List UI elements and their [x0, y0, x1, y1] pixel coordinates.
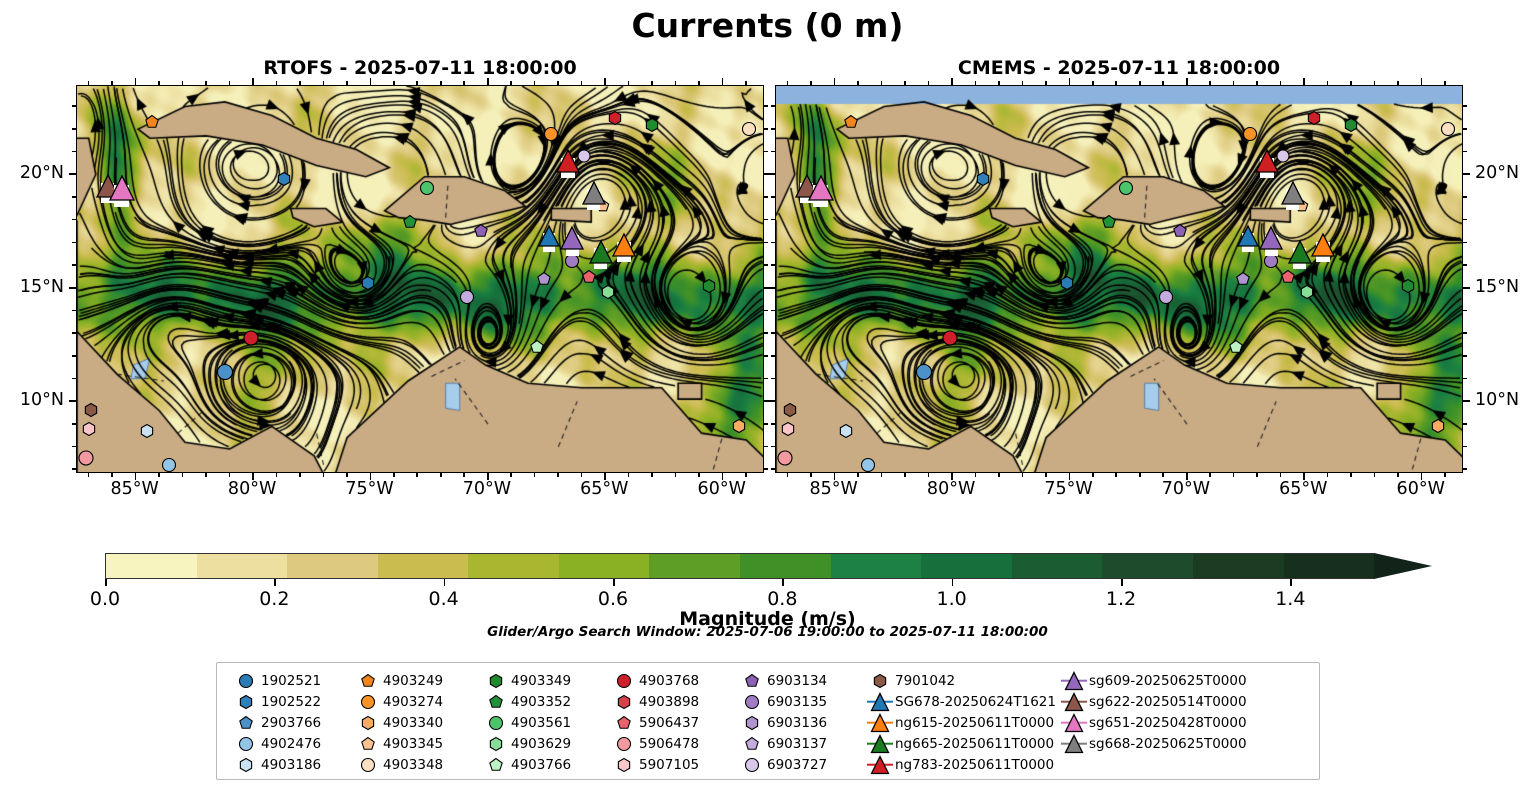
colorbar-tick	[782, 579, 784, 586]
legend-item[interactable]: 2903766	[231, 712, 353, 733]
colorbar-tick	[444, 579, 446, 586]
axis-tick	[69, 173, 76, 175]
axis-tick	[276, 81, 278, 85]
axis-tick	[1186, 78, 1188, 85]
legend-item-label: sg609-20250625T0000	[1089, 673, 1247, 689]
axis-tick	[881, 81, 883, 85]
colorbar-tick-label: 0.8	[767, 588, 797, 610]
float-symbol-icon	[481, 691, 511, 712]
axis-tick	[810, 81, 812, 85]
float-symbol-icon	[737, 691, 767, 712]
legend-column: 69031346903135690313669031376903727	[737, 670, 865, 779]
axis-tick	[928, 81, 930, 85]
axis-tick	[1069, 78, 1071, 85]
float-symbol-icon	[481, 712, 511, 733]
axis-tick	[1233, 473, 1235, 477]
axis-tick	[764, 219, 768, 221]
axis-tick	[463, 473, 465, 477]
legend-item[interactable]: 1902522	[231, 691, 353, 712]
axis-tick	[675, 81, 677, 85]
axis-tick	[904, 473, 906, 477]
axis-tick	[1463, 242, 1467, 244]
colorbar-band	[1012, 554, 1103, 578]
legend-column: 19025211902522290376649024764903186	[217, 670, 353, 779]
axis-tick	[1092, 473, 1094, 477]
legend-item-label: 2903766	[261, 715, 321, 731]
axis-tick	[111, 81, 113, 85]
legend-item[interactable]: 4903629	[481, 733, 609, 754]
x-axis-tick-label: 85°W	[810, 479, 858, 499]
float-symbol-icon	[481, 733, 511, 754]
legend-item-label: 6903135	[767, 694, 827, 710]
axis-tick	[771, 423, 775, 425]
axis-tick	[72, 242, 76, 244]
axis-tick	[771, 151, 775, 153]
axis-tick	[557, 81, 559, 85]
axis-tick	[346, 473, 348, 477]
axis-tick	[1397, 81, 1399, 85]
legend-item[interactable]: 4903345	[353, 733, 481, 754]
legend-item[interactable]: 6903727	[737, 754, 865, 775]
y-axis-tick-label-left: 20°N	[20, 163, 64, 183]
float-symbol-icon	[865, 670, 895, 691]
axis-tick	[1350, 473, 1352, 477]
axis-tick	[651, 81, 653, 85]
legend-item[interactable]: 7901042	[865, 670, 1043, 691]
axis-tick	[771, 446, 775, 448]
float-symbol-icon	[353, 691, 383, 712]
legend-item[interactable]: 6903137	[737, 733, 865, 754]
colorbar-tick-label: 1.2	[1106, 588, 1136, 610]
legend-item[interactable]: 6903136	[737, 712, 865, 733]
axis-tick	[1463, 332, 1467, 334]
axis-tick	[857, 473, 859, 477]
axis-tick	[323, 473, 325, 477]
axis-tick	[651, 473, 653, 477]
legend-item[interactable]: 4902476	[231, 733, 353, 754]
legend-item-label: sg668-20250625T0000	[1089, 736, 1247, 752]
axis-tick	[1350, 81, 1352, 85]
axis-tick	[787, 81, 789, 85]
colorbar-band	[559, 554, 650, 578]
axis-tick	[1115, 473, 1117, 477]
axis-tick	[857, 81, 859, 85]
panel-title-rtofs: RTOFS - 2025-07-11 18:00:00	[76, 57, 764, 79]
float-symbol-icon	[737, 670, 767, 691]
axis-tick	[951, 78, 953, 85]
axis-tick	[1209, 473, 1211, 477]
axis-tick	[323, 81, 325, 85]
colorbar-band	[831, 554, 922, 578]
legend-item-label: sg651-20250428T0000	[1089, 715, 1247, 731]
axis-tick	[764, 105, 768, 107]
float-symbol-icon	[231, 733, 261, 754]
axis-tick	[764, 332, 768, 334]
legend-box: 1902521190252229037664902476490318649032…	[216, 662, 1320, 780]
axis-tick	[534, 81, 536, 85]
float-symbol-icon	[737, 733, 767, 754]
axis-tick	[768, 173, 775, 175]
axis-tick	[1463, 378, 1467, 380]
axis-tick	[1463, 105, 1467, 107]
axis-tick	[904, 81, 906, 85]
y-axis-tick-label-right: 20°N	[1475, 163, 1519, 183]
axis-tick	[1092, 81, 1094, 85]
axis-tick	[745, 81, 747, 85]
colorbar-tick	[613, 579, 615, 586]
axis-tick	[72, 151, 76, 153]
legend-item-label: 6903134	[767, 673, 827, 689]
colorbar-band	[921, 554, 1012, 578]
axis-tick	[557, 473, 559, 477]
legend-item-label: sg622-20250514T0000	[1089, 694, 1247, 710]
axis-tick	[1463, 128, 1467, 130]
axis-tick	[370, 78, 372, 85]
axis-tick	[393, 81, 395, 85]
colorbar-band	[378, 554, 469, 578]
axis-tick	[771, 310, 775, 312]
legend-column: 49032494903274490334049033454903348	[353, 670, 481, 779]
axis-tick	[416, 81, 418, 85]
axis-tick	[764, 446, 768, 448]
colorbar-band	[1193, 554, 1284, 578]
y-axis-tick-label-left: 15°N	[20, 277, 64, 297]
x-axis-tick-label: 70°W	[1162, 479, 1210, 499]
axis-tick	[764, 264, 768, 266]
axis-tick	[72, 128, 76, 130]
legend-column: sg609-20250625T0000sg622-20250514T0000sg…	[1043, 670, 1237, 779]
axis-tick	[1280, 81, 1282, 85]
legend-item-label: 4903274	[383, 694, 443, 710]
axis-tick	[1209, 81, 1211, 85]
axis-tick	[299, 81, 301, 85]
axis-tick	[764, 355, 768, 357]
axis-tick	[810, 473, 812, 477]
float-symbol-icon	[481, 670, 511, 691]
colorbar-tick-label: 0.2	[259, 588, 289, 610]
x-axis-tick-label: 85°W	[111, 479, 159, 499]
axis-tick	[393, 473, 395, 477]
axis-tick	[1233, 81, 1235, 85]
legend-item-label: 4903340	[383, 715, 443, 731]
legend-item[interactable]: 1902521	[231, 670, 353, 691]
axis-tick	[72, 196, 76, 198]
x-axis-tick-label: 80°W	[927, 479, 975, 499]
float-symbol-icon	[231, 670, 261, 691]
axis-tick	[1162, 81, 1164, 85]
axis-tick	[771, 196, 775, 198]
x-axis-tick-label: 70°W	[463, 479, 511, 499]
legend-column: 49033494903352490356149036294903766	[481, 670, 609, 779]
legend-item-label: 4903349	[511, 673, 571, 689]
axis-tick	[1463, 468, 1467, 470]
current-magnitude-field	[77, 86, 763, 472]
legend-item[interactable]: 6903134	[737, 670, 865, 691]
float-symbol-icon	[353, 754, 383, 775]
axis-tick	[771, 219, 775, 221]
float-symbol-icon	[737, 712, 767, 733]
legend-item[interactable]: 4903249	[353, 670, 481, 691]
legend-item[interactable]: 4903898	[609, 691, 737, 712]
axis-tick	[229, 81, 231, 85]
axis-tick	[771, 468, 775, 470]
x-axis-tick-label: 65°W	[580, 479, 628, 499]
legend-item[interactable]: sg668-20250625T0000	[1059, 733, 1237, 754]
axis-tick	[1463, 287, 1470, 289]
colorbar-tick-label: 0.4	[429, 588, 459, 610]
axis-tick	[1327, 473, 1329, 477]
legend-column: 49037684903898590643759064785907105	[609, 670, 737, 779]
legend-item[interactable]: 4903561	[481, 712, 609, 733]
colorbar-band	[468, 554, 559, 578]
legend-item-label: 5906437	[639, 715, 699, 731]
x-axis-tick-label: 65°W	[1279, 479, 1327, 499]
axis-tick	[998, 473, 1000, 477]
axis-tick	[675, 473, 677, 477]
float-symbol-icon	[353, 733, 383, 754]
axis-tick	[1303, 78, 1305, 85]
axis-tick	[698, 81, 700, 85]
colorbar-tick	[105, 579, 107, 586]
axis-tick	[346, 81, 348, 85]
axis-tick	[299, 473, 301, 477]
legend-item[interactable]: 5906437	[609, 712, 737, 733]
axis-tick	[69, 287, 76, 289]
axis-tick	[764, 242, 768, 244]
axis-tick	[487, 78, 489, 85]
legend-item[interactable]: sg651-20250428T0000	[1059, 712, 1237, 733]
axis-tick	[881, 473, 883, 477]
colorbar-extend-arrow	[1374, 553, 1432, 579]
x-axis-tick-label: 75°W	[345, 479, 393, 499]
colorbar-tick-label: 1.4	[1275, 588, 1305, 610]
float-symbol-icon	[609, 691, 639, 712]
float-symbol-icon	[609, 754, 639, 775]
axis-tick	[1045, 81, 1047, 85]
colorbar-tick-label: 1.0	[937, 588, 967, 610]
float-symbol-icon	[609, 670, 639, 691]
map-panel-cmems[interactable]	[775, 85, 1463, 473]
legend-item[interactable]: 4903274	[353, 691, 481, 712]
legend-item[interactable]: 4903340	[353, 712, 481, 733]
glider-symbol-icon	[1059, 670, 1089, 691]
axis-tick	[1463, 151, 1467, 153]
glider-symbol-icon	[865, 754, 895, 775]
axis-tick	[1045, 473, 1047, 477]
axis-tick	[534, 473, 536, 477]
axis-tick	[72, 310, 76, 312]
axis-tick	[771, 332, 775, 334]
legend-item-label: ng665-20250611T0000	[895, 736, 1054, 752]
axis-tick	[440, 81, 442, 85]
legend-item-label: SG678-20250624T1621	[895, 694, 1056, 710]
axis-tick	[1463, 173, 1470, 175]
axis-tick	[1280, 473, 1282, 477]
legend-item-label: ng783-20250611T0000	[895, 757, 1054, 773]
legend-item[interactable]: 4903352	[481, 691, 609, 712]
legend-item[interactable]: ng783-20250611T0000	[865, 754, 1043, 775]
glider-symbol-icon	[1059, 691, 1089, 712]
legend-item-label: 4903629	[511, 736, 571, 752]
legend-item[interactable]: 4903186	[231, 754, 353, 775]
legend-item[interactable]: 6903135	[737, 691, 865, 712]
axis-tick	[252, 78, 254, 85]
legend-item[interactable]: sg609-20250625T0000	[1059, 670, 1237, 691]
axis-tick	[1162, 473, 1164, 477]
x-axis-tick-label: 60°W	[1397, 479, 1445, 499]
axis-tick	[628, 473, 630, 477]
legend-item-label: 6903137	[767, 736, 827, 752]
legend-item[interactable]: 4903768	[609, 670, 737, 691]
float-symbol-icon	[609, 712, 639, 733]
axis-tick	[604, 78, 606, 85]
axis-tick	[1463, 400, 1470, 402]
axis-tick	[229, 473, 231, 477]
legend-item-label: 4903345	[383, 736, 443, 752]
axis-tick	[745, 473, 747, 477]
axis-tick	[764, 310, 768, 312]
axis-tick	[1022, 81, 1024, 85]
legend-item[interactable]: 4903766	[481, 754, 609, 775]
legend-item-label: 5907105	[639, 757, 699, 773]
axis-tick	[1463, 310, 1467, 312]
axis-tick	[69, 400, 76, 402]
axis-tick	[764, 196, 768, 198]
axis-tick	[510, 81, 512, 85]
legend-item-label: 7901042	[895, 673, 955, 689]
float-symbol-icon	[353, 670, 383, 691]
legend-item[interactable]: ng665-20250611T0000	[865, 733, 1043, 754]
axis-tick	[1463, 423, 1467, 425]
float-symbol-icon	[231, 691, 261, 712]
axis-tick	[1463, 355, 1467, 357]
axis-tick	[764, 151, 768, 153]
axis-tick	[1374, 473, 1376, 477]
axis-tick	[581, 81, 583, 85]
search-window-text: Glider/Argo Search Window: 2025-07-06 19…	[0, 624, 1535, 640]
axis-tick	[205, 473, 207, 477]
colorbar-tick	[1121, 579, 1123, 586]
map-panel-rtofs[interactable]	[76, 85, 764, 473]
legend-item-label: 4902476	[261, 736, 321, 752]
colorbar-band	[1284, 554, 1375, 578]
legend-item-label: 4903766	[511, 757, 571, 773]
axis-tick	[722, 78, 724, 85]
axis-tick	[1327, 81, 1329, 85]
axis-tick	[771, 378, 775, 380]
legend-column: 7901042SG678-20250624T1621ng615-20250611…	[865, 670, 1043, 779]
axis-tick	[72, 219, 76, 221]
axis-tick	[1115, 81, 1117, 85]
axis-tick	[764, 468, 768, 470]
legend-item-label: 4903186	[261, 757, 321, 773]
axis-tick	[463, 81, 465, 85]
axis-tick	[72, 105, 76, 107]
legend-item-label: 1902522	[261, 694, 321, 710]
glider-symbol-icon	[1059, 712, 1089, 733]
float-symbol-icon	[737, 754, 767, 775]
axis-tick	[205, 81, 207, 85]
legend-item[interactable]: 4903349	[481, 670, 609, 691]
axis-tick	[1444, 81, 1446, 85]
axis-tick	[440, 473, 442, 477]
axis-tick	[182, 473, 184, 477]
axis-tick	[975, 81, 977, 85]
legend-item-label: 4903898	[639, 694, 699, 710]
legend-item-label: 4903768	[639, 673, 699, 689]
axis-tick	[628, 81, 630, 85]
colorbar-tick-label: 0.0	[90, 588, 120, 610]
colorbar-band	[649, 554, 740, 578]
axis-tick	[158, 473, 160, 477]
axis-tick	[764, 378, 768, 380]
colorbar: 0.00.20.40.60.81.01.21.4	[105, 553, 1430, 579]
axis-tick	[1256, 473, 1258, 477]
colorbar-tick-label: 0.6	[598, 588, 628, 610]
y-axis-tick-label-right: 10°N	[1475, 390, 1519, 410]
legend-item[interactable]: ng615-20250611T0000	[865, 712, 1043, 733]
axis-tick	[88, 81, 90, 85]
legend-item[interactable]: 4903348	[353, 754, 481, 775]
axis-tick	[764, 128, 768, 130]
axis-tick	[975, 473, 977, 477]
axis-tick	[1256, 81, 1258, 85]
axis-tick	[771, 105, 775, 107]
axis-tick	[764, 423, 768, 425]
axis-tick	[998, 81, 1000, 85]
axis-tick	[771, 242, 775, 244]
axis-tick	[771, 264, 775, 266]
x-axis-tick-label: 60°W	[698, 479, 746, 499]
x-axis-tick-label: 75°W	[1044, 479, 1092, 499]
legend-item[interactable]: SG678-20250624T1621	[865, 691, 1043, 712]
colorbar-tick	[1290, 579, 1292, 586]
axis-tick	[1139, 473, 1141, 477]
axis-tick	[72, 332, 76, 334]
axis-tick	[72, 423, 76, 425]
axis-tick	[158, 81, 160, 85]
legend-item[interactable]: sg622-20250514T0000	[1059, 691, 1237, 712]
axis-tick	[581, 473, 583, 477]
legend-item-label: ng615-20250611T0000	[895, 715, 1054, 731]
axis-tick	[771, 128, 775, 130]
panel-title-cmems: CMEMS - 2025-07-11 18:00:00	[775, 57, 1463, 79]
axis-tick	[771, 355, 775, 357]
axis-tick	[416, 473, 418, 477]
colorbar-tick	[952, 579, 954, 586]
colorbar-band	[1102, 554, 1193, 578]
axis-tick	[72, 264, 76, 266]
float-symbol-icon	[231, 712, 261, 733]
legend-item[interactable]: 5907105	[609, 754, 737, 775]
colorbar-tick	[274, 579, 276, 586]
axis-tick	[72, 378, 76, 380]
legend-item-label: 4903561	[511, 715, 571, 731]
axis-tick	[88, 473, 90, 477]
colorbar-band	[197, 554, 288, 578]
legend-item-label: 5906478	[639, 736, 699, 752]
axis-tick	[135, 78, 137, 85]
axis-tick	[1463, 264, 1467, 266]
axis-tick	[1022, 473, 1024, 477]
float-symbol-icon	[481, 754, 511, 775]
colorbar-band	[106, 554, 197, 578]
legend-item-label: 4903348	[383, 757, 443, 773]
figure-suptitle: Currents (0 m)	[0, 6, 1535, 45]
legend-item-label: 6903136	[767, 715, 827, 731]
legend-item[interactable]: 5906478	[609, 733, 737, 754]
axis-tick	[1463, 219, 1467, 221]
